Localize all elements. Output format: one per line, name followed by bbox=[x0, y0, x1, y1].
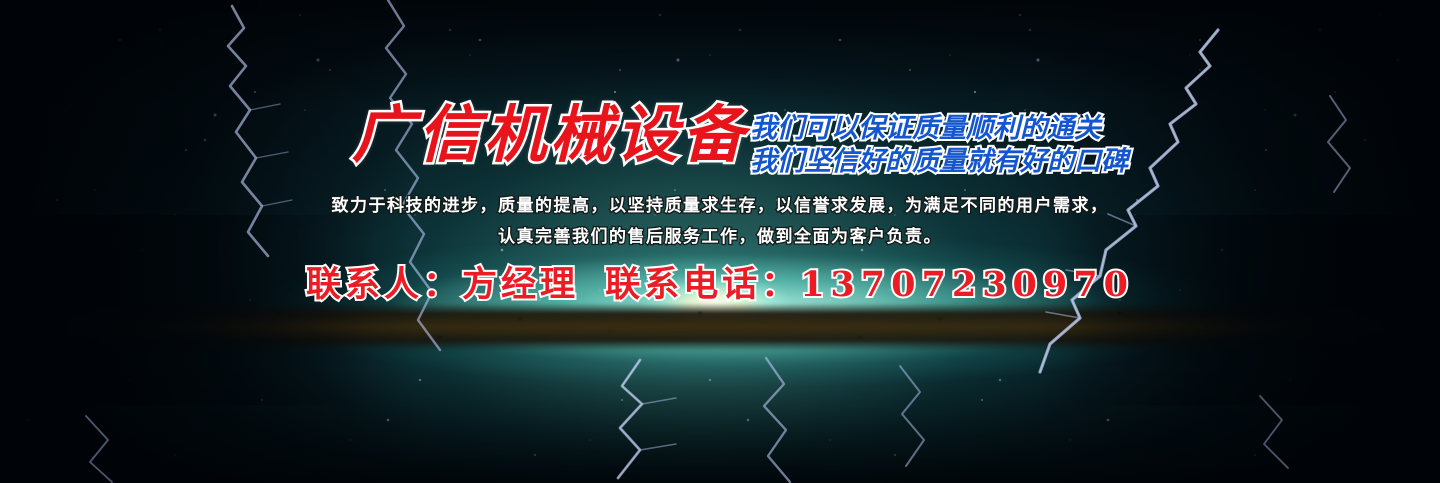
slogan-line-2: 我们坚信好的质量就有好的口碑 bbox=[750, 145, 1128, 178]
slogan-block: 我们可以保证质量顺利的通关 我们坚信好的质量就有好的口碑 bbox=[750, 112, 1128, 178]
contact-phone-label: 联系电话： bbox=[605, 264, 800, 305]
company-title: 广信机械设备 bbox=[352, 104, 748, 166]
contact-phone-number[interactable]: 13707230970 bbox=[800, 264, 1134, 305]
contact-person-name: 方经理 bbox=[462, 264, 579, 305]
contact-line: 联系人：方经理联系电话：13707230970 bbox=[0, 256, 1440, 307]
slogan-line-1: 我们可以保证质量顺利的通关 bbox=[750, 112, 1128, 145]
description-line-2: 认真完善我们的售后服务工作，做到全面为客户负责。 bbox=[0, 222, 1440, 253]
description-line-1: 致力于科技的进步，质量的提高，以坚持质量求生存，以信誉求发展，为满足不同的用户需… bbox=[0, 191, 1440, 222]
description-block: 致力于科技的进步，质量的提高，以坚持质量求生存，以信誉求发展，为满足不同的用户需… bbox=[0, 191, 1440, 253]
banner-content: 广信机械设备 我们可以保证质量顺利的通关 我们坚信好的质量就有好的口碑 致力于科… bbox=[0, 0, 1440, 483]
contact-person-label: 联系人： bbox=[306, 264, 462, 305]
promotional-banner: 广信机械设备 我们可以保证质量顺利的通关 我们坚信好的质量就有好的口碑 致力于科… bbox=[0, 0, 1440, 483]
